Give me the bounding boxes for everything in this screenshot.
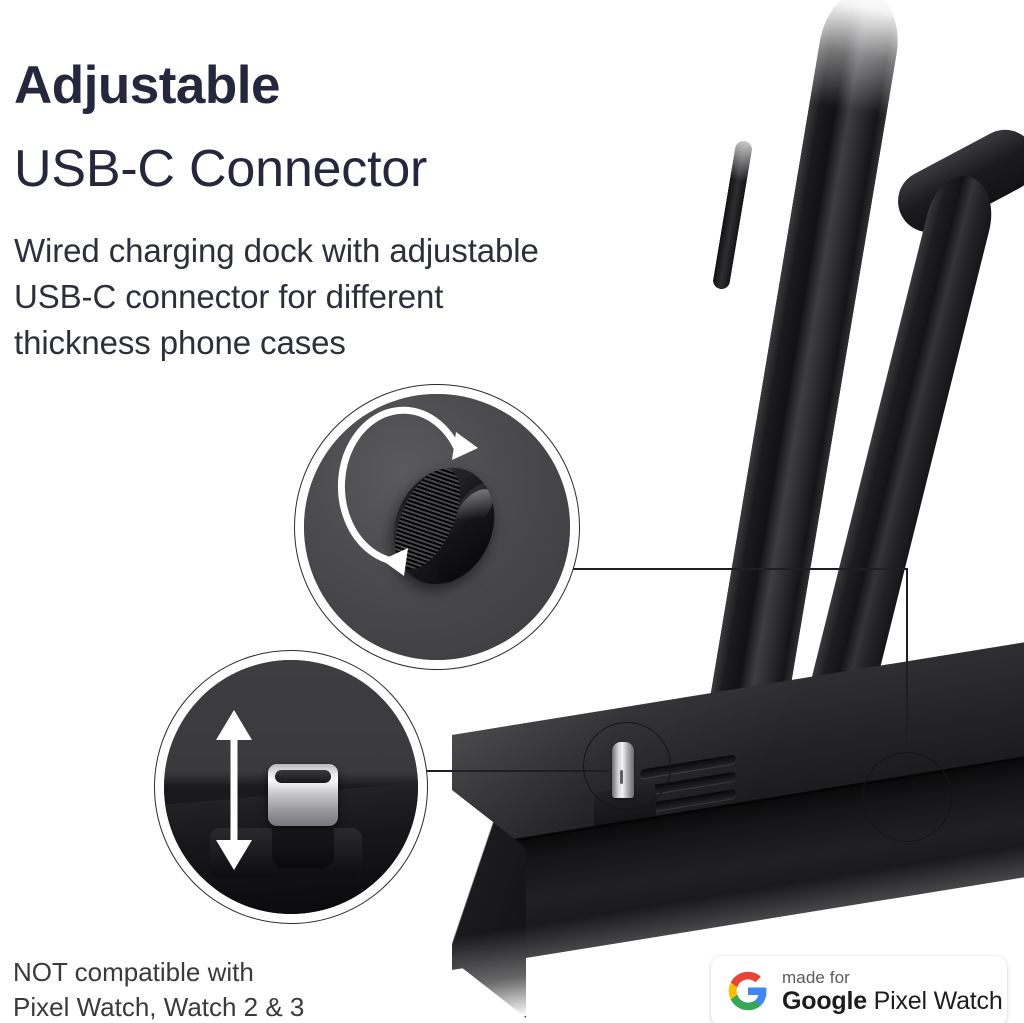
- rotation-arrow-icon: [304, 394, 570, 660]
- callout-adjustment-wheel-photo: [304, 394, 570, 660]
- compatibility-disclaimer: NOT compatible with Pixel Watch, Watch 2…: [13, 955, 304, 1023]
- badge-made-for-label: made for: [782, 969, 1003, 986]
- product-feature-image: Adjustable USB-C Connector Wired chargin…: [0, 0, 1024, 1023]
- disclaimer-line-2: Pixel Watch, Watch 2 & 3: [13, 990, 304, 1023]
- leader-line-wheel-horizontal: [570, 568, 908, 570]
- description-line-2: USB-C connector for different: [14, 274, 674, 320]
- leader-line-usbc-horizontal: [420, 770, 610, 772]
- callout-usb-c-connector: [154, 650, 428, 924]
- description-line-1: Wired charging dock with adjustable: [14, 228, 674, 274]
- badge-product-label: Google Pixel Watch: [782, 989, 1003, 1014]
- marker-circle-adjustment-wheel: [862, 752, 952, 842]
- badge-text-block: made for Google Pixel Watch: [782, 969, 1003, 1014]
- badge-brand: Google: [782, 987, 867, 1015]
- headline-line-2: USB-C Connector: [14, 140, 427, 198]
- google-g-icon: [727, 970, 769, 1012]
- headline-line-1: Adjustable: [14, 57, 280, 115]
- phone-support-arm-groove: [712, 140, 754, 291]
- callout-usb-c-photo: [164, 660, 418, 914]
- made-for-google-badge: made for Google Pixel Watch: [711, 956, 1007, 1023]
- marker-circle-usb-c: [583, 722, 671, 810]
- badge-product: Pixel Watch: [874, 987, 1003, 1015]
- callout-adjustment-wheel: [294, 384, 580, 670]
- disclaimer-line-1: NOT compatible with: [13, 955, 304, 990]
- height-adjust-arrow-icon: [164, 660, 418, 914]
- leader-line-wheel-vertical: [906, 568, 908, 758]
- description-text: Wired charging dock with adjustable USB-…: [14, 228, 674, 366]
- description-line-3: thickness phone cases: [14, 320, 674, 366]
